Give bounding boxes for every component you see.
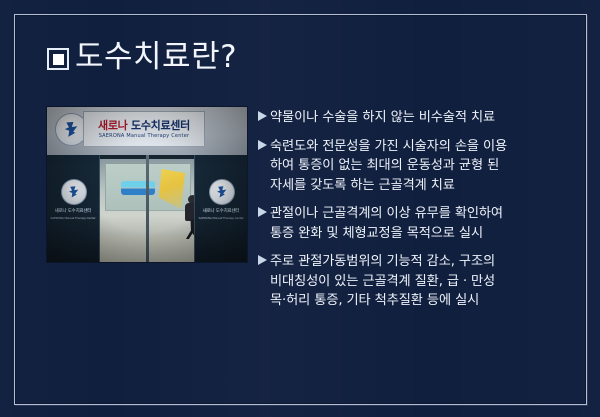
photo-door-mullion [146,155,149,262]
door-label-english: SAERONA Manual Therapy Center [47,216,99,221]
photo-glass-door-right: 새로나 도수치료센터 SAERONA Manual Therapy Center [194,155,247,262]
bullet-text: 관절이나 근골격계의 이상 유무를 확인하여 통증 완화 및 체형교정을 목적으… [270,204,503,243]
bullet-list: 약물이나 수술을 하지 않는 비수술적 치료 숙련도와 전문성을 가진 시술자의… [258,108,558,311]
bullet-text: 숙련도와 전문성을 가진 시술자의 손을 이용 하여 통증이 없는 최대의 운동… [270,137,507,196]
slide-title-row: 도수치료란? [47,40,237,75]
list-item: 주로 관절가동범위의 기능적 감소, 구조의 비대칭성이 있는 근골격계 질환,… [258,252,558,311]
photo-interior: 새로나 도수치료센터 SAERONA Manual Therapy Center… [47,155,247,262]
photo-glass-door-left: 새로나 도수치료센터 SAERONA Manual Therapy Center [47,155,100,262]
list-item: 숙련도와 전문성을 가진 시술자의 손을 이용 하여 통증이 없는 최대의 운동… [258,137,558,196]
photo-door-label-left: 새로나 도수치료센터 SAERONA Manual Therapy Center [47,209,99,220]
page-title: 도수치료란? [75,40,237,75]
triangle-right-bullet-icon [258,207,270,217]
triangle-right-bullet-icon [258,255,270,265]
signboard-brand: 새로나 [98,119,127,132]
photo-door-label-right: 새로나 도수치료센터 SAERONA Manual Therapy Center [195,209,247,220]
photo-wave-graphic [121,181,155,195]
signboard-korean-text: 새로나 도수치료센터 [98,120,190,131]
door-label-korean: 새로나 도수치료센터 [47,209,99,216]
photo-signboard: 새로나 도수치료센터 SAERONA Manual Therapy Center [83,111,205,147]
signboard-service: 도수치료센터 [128,119,190,132]
photo-signage-band: 새로나 도수치료센터 SAERONA Manual Therapy Center [47,107,247,155]
bullet-text: 약물이나 수술을 하지 않는 비수술적 치료 [270,108,495,128]
list-item: 관절이나 근골격계의 이상 유무를 확인하여 통증 완화 및 체형교정을 목적으… [258,204,558,243]
triangle-right-bullet-icon [258,140,270,150]
bird-emblem-logo-icon [209,179,235,205]
door-label-korean: 새로나 도수치료센터 [195,209,247,216]
bullet-text: 주로 관절가동범위의 기능적 감소, 구조의 비대칭성이 있는 근골격계 질환,… [270,252,495,311]
signboard-english-text: SAERONA Manual Therapy Center [99,134,190,139]
door-label-english: SAERONA Manual Therapy Center [195,216,247,221]
bird-emblem-logo-icon [61,179,87,205]
list-item: 약물이나 수술을 하지 않는 비수술적 치료 [258,108,558,128]
clinic-entrance-photo: 새로나 도수치료센터 SAERONA Manual Therapy Center… [47,107,247,262]
filled-square-bullet-icon [47,48,69,70]
triangle-right-bullet-icon [258,111,270,121]
presentation-slide: 도수치료란? 새로나 도수치료센터 SAERONA Manual Therapy… [0,0,600,417]
